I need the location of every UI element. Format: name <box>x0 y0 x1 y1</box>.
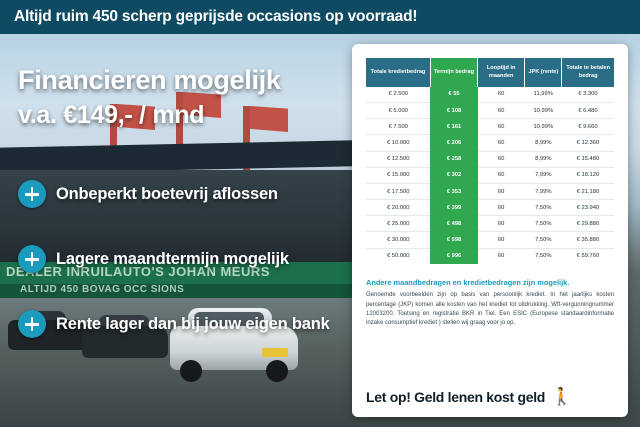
table-cell: € 21.180 <box>562 183 614 199</box>
col-header-termijn-bedrag: Termijn bedrag <box>430 58 477 87</box>
table-cell: € 7.500 <box>366 119 430 135</box>
table-cell: 7,50% <box>525 200 562 216</box>
table-cell: € 996 <box>430 248 477 264</box>
table-cell: € 20.000 <box>366 200 430 216</box>
table-row: € 15.000€ 302607,99%€ 18.120 <box>366 167 614 183</box>
table-cell: € 25.000 <box>366 216 430 232</box>
page-subtitle: v.a. €149,- / mnd <box>18 101 281 130</box>
table-cell: € 108 <box>430 102 477 118</box>
table-cell: 7,50% <box>525 232 562 248</box>
table-cell: € 161 <box>430 119 477 135</box>
table-cell: € 498 <box>430 216 477 232</box>
table-header-row: Totale kredietbedrag Termijn bedrag Loop… <box>366 58 614 87</box>
table-row: € 30.000€ 598607,50%€ 35.880 <box>366 232 614 248</box>
rates-table-body: € 2.500€ 556011,99%€ 3.300€ 5.000€ 10860… <box>366 87 614 264</box>
benefit-item-3: Rente lager dan bij jouw eigen bank <box>18 310 330 338</box>
table-cell: 60 <box>478 183 525 199</box>
table-row: € 10.000€ 206608,99%€ 12.360 <box>366 135 614 151</box>
table-cell: 60 <box>478 151 525 167</box>
table-cell: 10,99% <box>525 102 562 118</box>
table-cell: 60 <box>478 232 525 248</box>
table-cell: 60 <box>478 135 525 151</box>
table-row: € 50.000€ 996607,50%€ 59.760 <box>366 248 614 264</box>
table-cell: € 30.000 <box>366 232 430 248</box>
table-row: € 7.500€ 1616010,99%€ 9.660 <box>366 119 614 135</box>
table-cell: € 15.000 <box>366 167 430 183</box>
benefit-item-3-label: Rente lager dan bij jouw eigen bank <box>56 315 330 334</box>
table-cell: € 12.360 <box>562 135 614 151</box>
table-cell: € 3.300 <box>562 87 614 103</box>
table-row: € 5.000€ 1086010,99%€ 6.480 <box>366 102 614 118</box>
col-header-totale-kredietbedrag: Totale kredietbedrag <box>366 58 430 87</box>
table-cell: € 18.120 <box>562 167 614 183</box>
table-row: € 25.000€ 498607,50%€ 29.880 <box>366 216 614 232</box>
table-cell: € 23.940 <box>562 200 614 216</box>
table-cell: 7,99% <box>525 167 562 183</box>
table-cell: 60 <box>478 102 525 118</box>
table-cell: 7,99% <box>525 183 562 199</box>
table-cell: € 5.000 <box>366 102 430 118</box>
table-cell: 60 <box>478 167 525 183</box>
building-roof <box>0 140 360 174</box>
table-cell: € 6.480 <box>562 102 614 118</box>
table-cell: € 29.880 <box>562 216 614 232</box>
rates-card: Totale kredietbedrag Termijn bedrag Loop… <box>352 44 628 417</box>
table-cell: 60 <box>478 119 525 135</box>
benefit-item-1-label: Onbeperkt boetevrij aflossen <box>56 185 278 204</box>
table-cell: € 353 <box>430 183 477 199</box>
benefit-item-2-label: Lagere maandtermijn mogelijk <box>56 250 289 269</box>
rates-table: Totale kredietbedrag Termijn bedrag Loop… <box>366 58 614 264</box>
page-title: Financieren mogelijk <box>18 66 281 95</box>
banner-text: Altijd ruim 450 scherp geprijsde occasio… <box>0 8 417 26</box>
top-banner: Altijd ruim 450 scherp geprijsde occasio… <box>0 0 640 34</box>
table-cell: 11,99% <box>525 87 562 103</box>
table-cell: 8,99% <box>525 135 562 151</box>
disclaimer-body: Genoemde voorbeelden zijn op basis van p… <box>366 291 614 328</box>
table-cell: € 15.480 <box>562 151 614 167</box>
table-cell: 8,99% <box>525 151 562 167</box>
table-cell: 60 <box>478 87 525 103</box>
table-cell: € 55 <box>430 87 477 103</box>
warning-text: Let op! Geld lenen kost geld <box>366 389 545 405</box>
table-cell: 60 <box>478 248 525 264</box>
car-3-wheel-rear <box>266 360 288 382</box>
car-3-license-plate <box>262 348 288 357</box>
table-cell: € 35.880 <box>562 232 614 248</box>
table-cell: € 10.000 <box>366 135 430 151</box>
benefit-item-1: Onbeperkt boetevrij aflossen <box>18 180 278 208</box>
table-cell: € 59.760 <box>562 248 614 264</box>
car-3-wheel-front <box>180 360 202 382</box>
table-cell: € 206 <box>430 135 477 151</box>
benefit-item-2: Lagere maandtermijn mogelijk <box>18 245 289 273</box>
table-cell: € 12.500 <box>366 151 430 167</box>
table-row: € 17.500€ 353607,99%€ 21.180 <box>366 183 614 199</box>
table-cell: € 399 <box>430 200 477 216</box>
table-cell: 10,99% <box>525 119 562 135</box>
table-cell: 7,50% <box>525 248 562 264</box>
table-cell: 60 <box>478 216 525 232</box>
warning-block: Let op! Geld lenen kost geld 🚶 <box>366 388 614 405</box>
table-cell: € 9.660 <box>562 119 614 135</box>
col-header-totale-te-betalen: Totale te betalen bedrag <box>562 58 614 87</box>
table-cell: 7,50% <box>525 216 562 232</box>
table-row: € 12.500€ 258608,99%€ 15.480 <box>366 151 614 167</box>
table-cell: € 17.500 <box>366 183 430 199</box>
plus-icon <box>18 310 46 338</box>
table-cell: 60 <box>478 200 525 216</box>
disclaimer-title: Andere maandbedragen en kredietbedragen … <box>366 278 614 288</box>
table-cell: € 2.500 <box>366 87 430 103</box>
table-cell: € 258 <box>430 151 477 167</box>
promo-headline-block: Financieren mogelijk v.a. €149,- / mnd <box>18 66 281 130</box>
table-cell: € 50.000 <box>366 248 430 264</box>
dealership-sign-subtext: ALTIJD 450 BOVAG OCC SIONS <box>20 284 350 295</box>
table-cell: € 598 <box>430 232 477 248</box>
col-header-jpk: JPK (rente) <box>525 58 562 87</box>
plus-icon <box>18 245 46 273</box>
col-header-looptijd: Looptijd in maanden <box>478 58 525 87</box>
table-row: € 20.000€ 399607,50%€ 23.940 <box>366 200 614 216</box>
table-cell: € 302 <box>430 167 477 183</box>
table-row: € 2.500€ 556011,99%€ 3.300 <box>366 87 614 103</box>
walking-person-icon: 🚶 <box>551 388 572 405</box>
poster-root: DEALER INRUILAUTO'S JOHAN MEURS ALTIJD 4… <box>0 0 640 427</box>
plus-icon <box>18 180 46 208</box>
